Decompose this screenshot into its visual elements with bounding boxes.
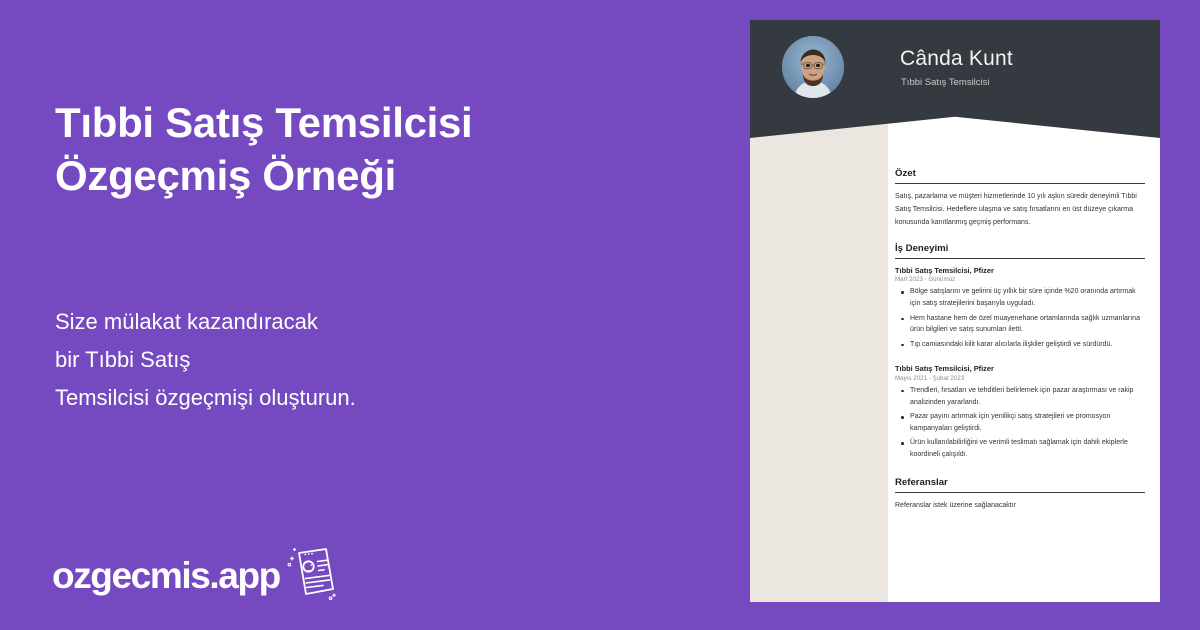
summary-text: Satış, pazarlama ve müşteri hizmetlerind… [895,191,1145,230]
page-subtitle-line-3: Temsilcisi özgeçmişi oluşturun. [55,379,615,417]
job-date: Mart 2023 - Günümüz [895,276,1145,283]
summary-heading: Özet [895,168,1145,184]
resume-role: Tıbbi Satış Temsilcisi [901,77,990,88]
brand-logo-text: ozgecmis.app [52,557,280,594]
avatar [782,36,844,98]
cv-document-icon [286,545,338,606]
resume-preview-card[interactable]: Cânda Kunt Tıbbi Satış Temsilcisi İrtiba… [750,20,1160,602]
page-title-line-1: Tıbbi Satış Temsilcisi [55,96,655,149]
job-bullet: Ürün kullanılabilirliğini ve verimli tes… [895,437,1145,461]
page-title: Tıbbi Satış Temsilcisi Özgeçmiş Örneği [55,96,655,203]
job-bullets: Bölge satışlarını ve gelirini üç yıllık … [895,286,1145,350]
experience-item: Tıbbi Satış Temsilcisi, Pfizer Mart 2023… [895,266,1145,351]
job-bullet: Trendleri, fırsatları ve tehditleri beli… [895,385,1145,409]
page-subtitle: Size mülakat kazandıracak bir Tıbbi Satı… [55,303,615,416]
page-subtitle-line-1: Size mülakat kazandıracak [55,303,615,341]
job-bullets: Trendleri, fırsatları ve tehditleri beli… [895,385,1145,461]
references-text: Referanslar istek üzerine sağlanacaktır [895,500,1145,513]
page-subtitle-line-2: bir Tıbbi Satış [55,341,615,379]
experience-heading: İş Deneyimi [895,243,1145,259]
job-title: Tıbbi Satış Temsilcisi, Pfizer [895,364,1145,373]
experience-item: Tıbbi Satış Temsilcisi, Pfizer Mayıs 202… [895,364,1145,461]
job-title: Tıbbi Satış Temsilcisi, Pfizer [895,266,1145,275]
job-bullet: Tıp camiasındaki kilit karar alıcılarla … [895,339,1145,351]
job-bullet: Pazar payını artırmak için yenilikçi sat… [895,411,1145,435]
page-title-line-2: Özgeçmiş Örneği [55,149,655,202]
references-heading: Referanslar [895,477,1145,493]
job-bullet: Bölge satışlarını ve gelirini üç yıllık … [895,286,1145,310]
job-bullet: Hem hastane hem de özel muayenehane orta… [895,313,1145,337]
resume-name: Cânda Kunt [900,47,1013,71]
promo-panel: Tıbbi Satış Temsilcisi Özgeçmiş Örneği S… [0,0,740,630]
brand-logo[interactable]: ozgecmis.app [52,545,338,606]
job-date: Mayıs 2021 - Şubat 2023 [895,375,1145,382]
